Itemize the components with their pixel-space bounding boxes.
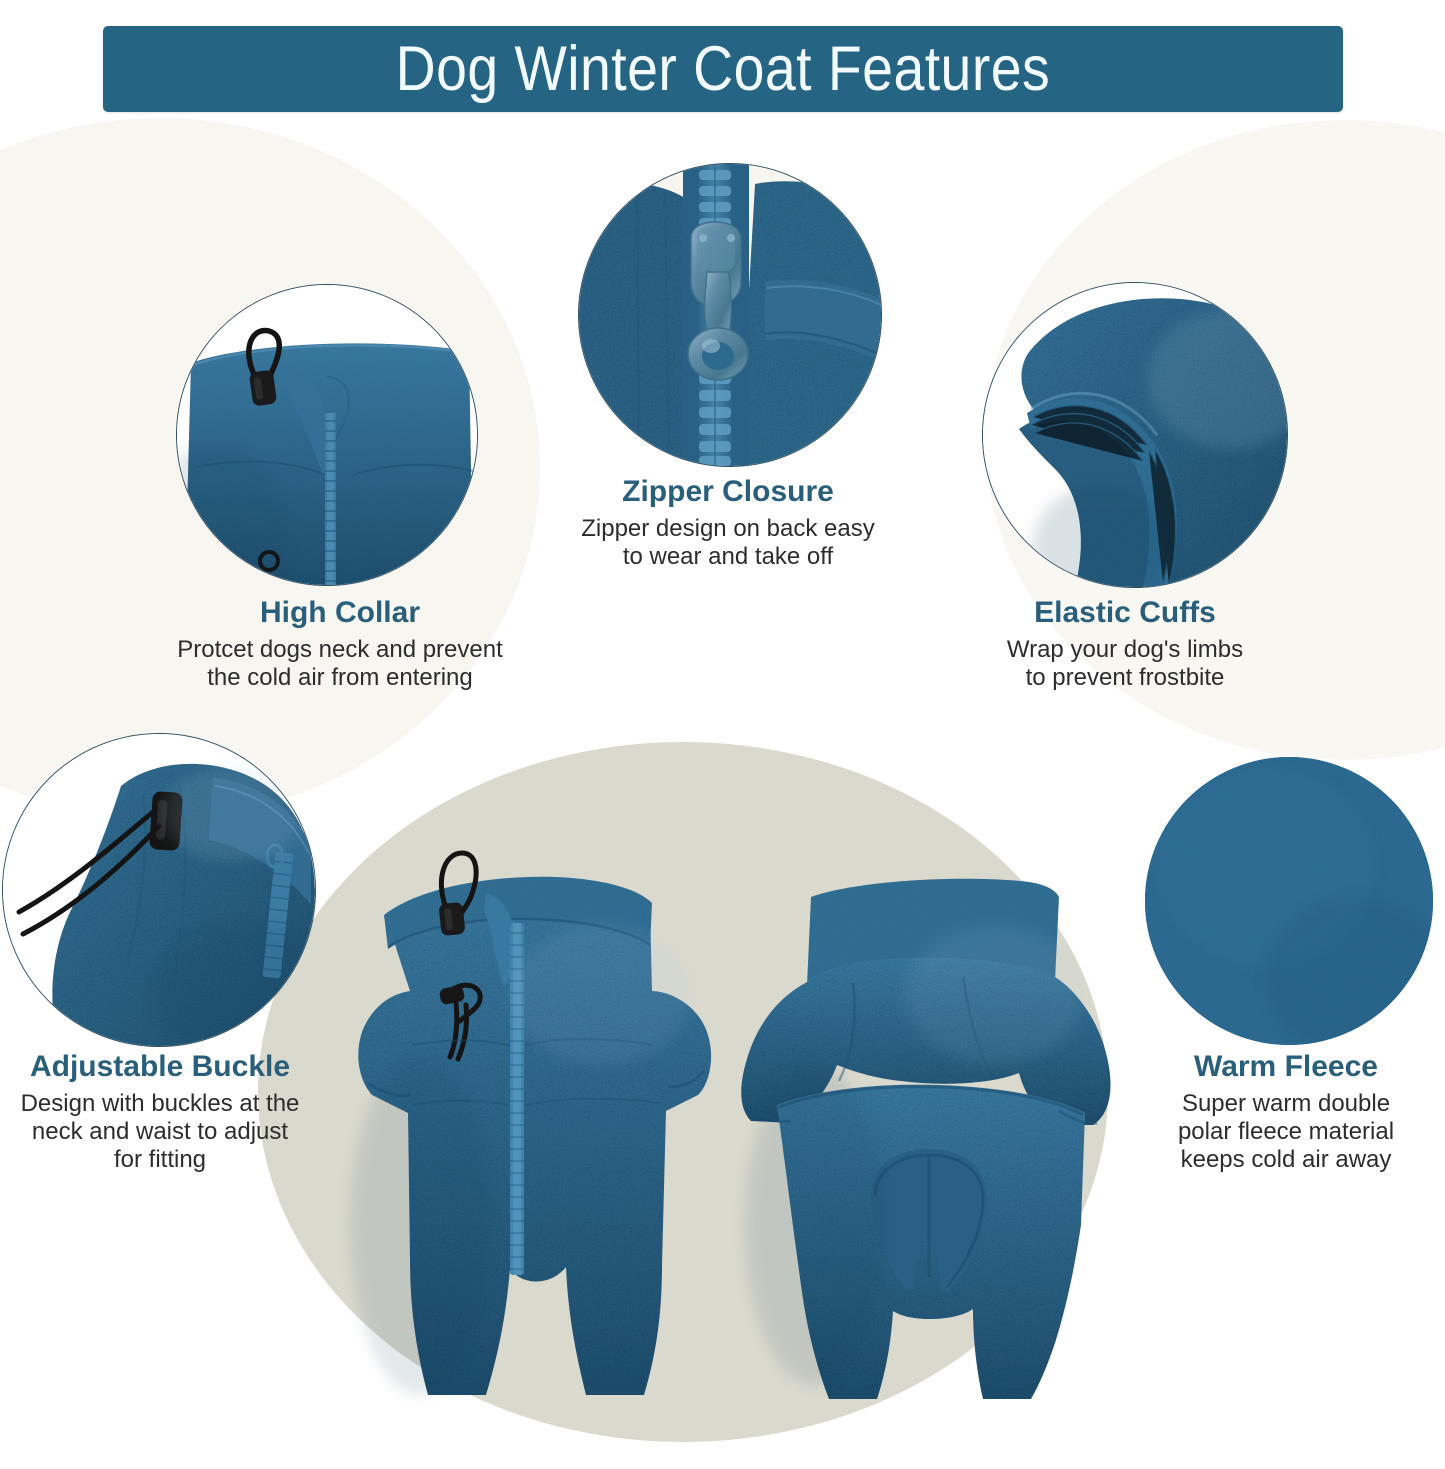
warm-fleece-closeup xyxy=(1145,757,1433,1045)
product-back-view xyxy=(725,795,1125,1455)
feature-title-elastic-cuffs: Elastic Cuffs xyxy=(960,596,1290,629)
dog-coat-back-view xyxy=(725,795,1125,1455)
feature-image-high-collar xyxy=(176,284,478,586)
feature-desc-high-collar-line2: the cold air from entering xyxy=(125,664,555,692)
feature-desc-buckle-line2: neck and waist to adjust xyxy=(0,1118,320,1146)
title-banner: Dog Winter Coat Features xyxy=(103,26,1343,112)
feature-desc-fleece-line2: polar fleece material xyxy=(1128,1118,1444,1146)
feature-desc-zipper-line2: to wear and take off xyxy=(528,543,928,571)
feature-title-warm-fleece: Warm Fleece xyxy=(1128,1050,1444,1083)
elastic-cuff-closeup xyxy=(983,283,1287,587)
infographic-canvas: Dog Winter Coat Features xyxy=(0,0,1445,1469)
product-front-view xyxy=(300,795,730,1455)
caption-warm-fleece: Warm Fleece Super warm double polar flee… xyxy=(1128,1050,1444,1173)
caption-high-collar: High Collar Protcet dogs neck and preven… xyxy=(125,596,555,692)
zipper-line xyxy=(325,413,336,585)
feature-image-adjustable-buckle xyxy=(2,733,316,1047)
feature-title-high-collar: High Collar xyxy=(125,596,555,629)
feature-desc-cuffs-line1: Wrap your dog's limbs xyxy=(960,636,1290,664)
feature-desc-buckle-line1: Design with buckles at the xyxy=(0,1090,320,1118)
zipper-closeup xyxy=(579,164,881,466)
caption-elastic-cuffs: Elastic Cuffs Wrap your dog's limbs to p… xyxy=(960,596,1290,692)
page-title: Dog Winter Coat Features xyxy=(396,38,1051,101)
feature-title-adjustable-buckle: Adjustable Buckle xyxy=(0,1050,320,1083)
feature-image-zipper-closure xyxy=(578,163,882,467)
feature-desc-zipper-line1: Zipper design on back easy xyxy=(528,515,928,543)
adjustable-buckle-closeup xyxy=(3,734,315,1046)
caption-zipper-closure: Zipper Closure Zipper design on back eas… xyxy=(528,475,928,571)
feature-desc-cuffs-line2: to prevent frostbite xyxy=(960,664,1290,692)
feature-title-zipper-closure: Zipper Closure xyxy=(528,475,928,508)
feature-desc-fleece-line3: keeps cold air away xyxy=(1128,1146,1444,1174)
feature-image-warm-fleece xyxy=(1145,757,1433,1045)
high-collar-closeup xyxy=(177,285,477,585)
feature-desc-buckle-line3: for fitting xyxy=(0,1146,320,1174)
feature-image-elastic-cuffs xyxy=(982,282,1288,588)
caption-adjustable-buckle: Adjustable Buckle Design with buckles at… xyxy=(0,1050,320,1173)
feature-desc-fleece-line1: Super warm double xyxy=(1128,1090,1444,1118)
feature-desc-high-collar-line1: Protcet dogs neck and prevent xyxy=(125,636,555,664)
dog-coat-front-view xyxy=(300,795,730,1455)
